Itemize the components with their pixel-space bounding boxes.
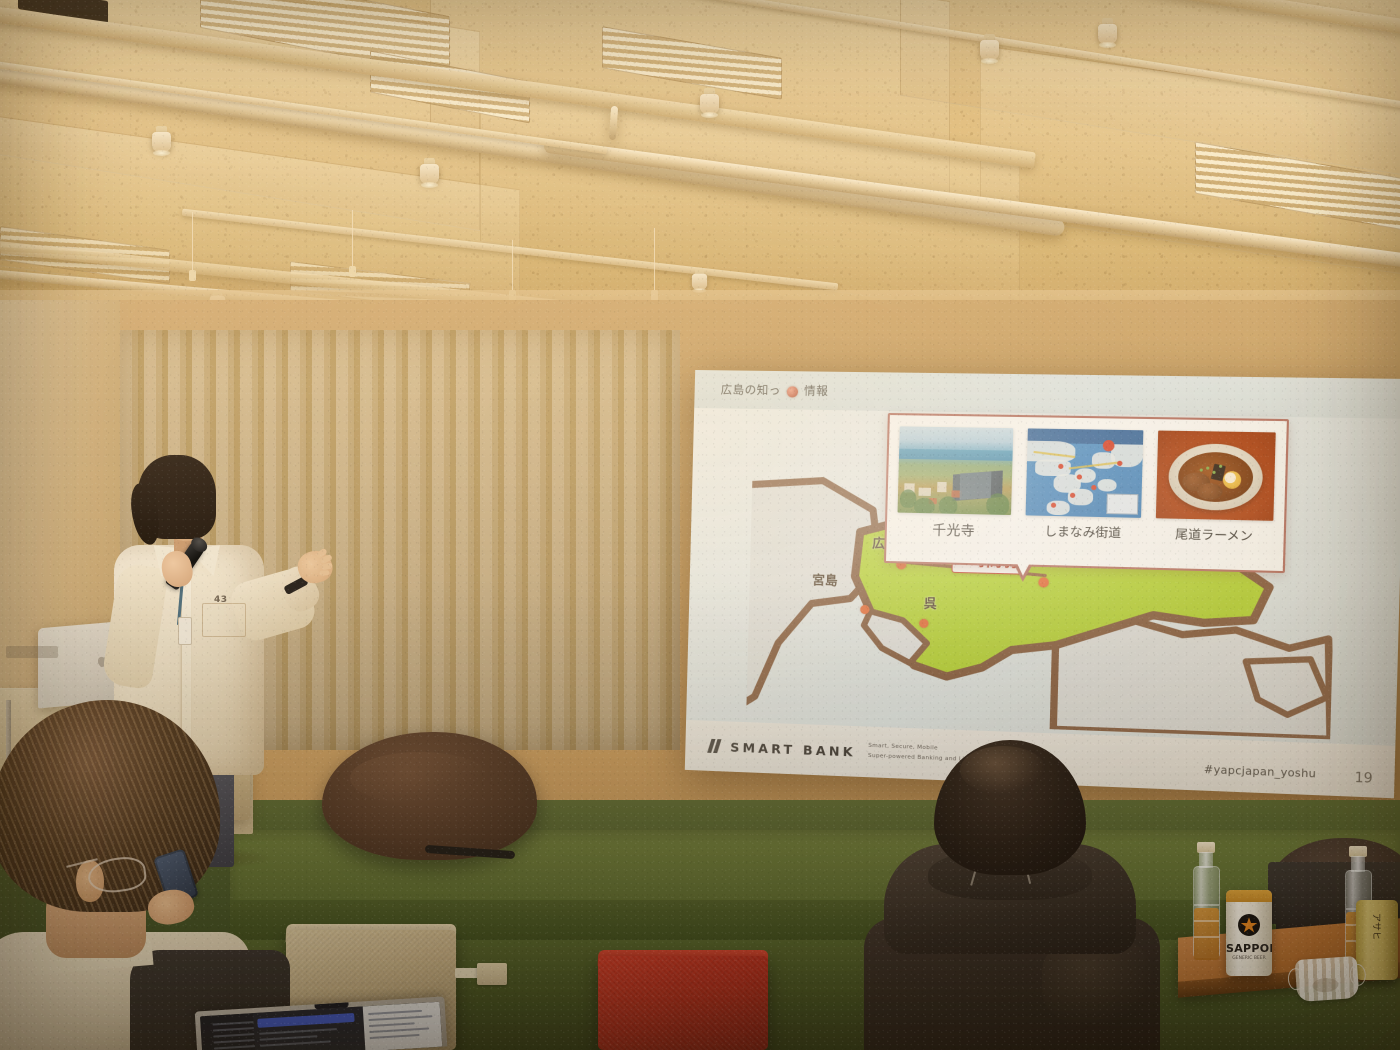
slide-header-suffix: 情報 bbox=[804, 382, 829, 398]
face-mask bbox=[1295, 956, 1360, 1002]
sapporo-star-icon bbox=[1238, 914, 1260, 936]
track-spotlight bbox=[420, 158, 439, 188]
presenter-shirt-logo: 43 bbox=[214, 595, 228, 605]
track-spotlight bbox=[700, 88, 719, 118]
pull-cord bbox=[512, 240, 513, 292]
callout-tail-inner bbox=[1017, 563, 1030, 576]
can-sub-text: GENERIC BEER bbox=[1226, 956, 1272, 961]
audience-member-left bbox=[0, 700, 300, 1050]
tourist-card-list: 千光寺 bbox=[887, 415, 1287, 547]
laptop-app-main bbox=[253, 1006, 366, 1050]
laptop-sticker bbox=[6, 646, 58, 658]
tourist-card-caption: しまなみ街道 bbox=[1025, 520, 1141, 541]
beer-can-sapporo: SAPPORO GENERIC BEER bbox=[1226, 890, 1272, 976]
conference-photo-scene: 広島の知っ 情報 広島の全体像と観光地 bbox=[0, 0, 1400, 1050]
ceiling bbox=[0, 0, 1400, 330]
tea-bottle-left bbox=[1192, 842, 1222, 962]
can2-brand-text: アサヒ bbox=[1371, 913, 1384, 940]
slide-header: 広島の知っ 情報 bbox=[694, 370, 1400, 419]
pull-cord bbox=[352, 210, 353, 268]
audience-member-center bbox=[862, 740, 1162, 1050]
tourist-card-caption: 千光寺 bbox=[897, 518, 1011, 541]
slide-header-prefix: 広島の知っ bbox=[720, 381, 781, 398]
tourist-card: 尾道 尾道ラーメン bbox=[1155, 431, 1276, 547]
map-label-kure: 呉 bbox=[924, 592, 937, 612]
track-spotlight bbox=[152, 126, 171, 156]
toku-badge-icon bbox=[787, 386, 798, 397]
presenter-badge bbox=[178, 617, 192, 645]
tourist-card: 千光寺 bbox=[897, 426, 1013, 540]
onomichi-ramen-photo: 尾道 bbox=[1156, 431, 1276, 521]
smartbank-logo-icon bbox=[709, 739, 718, 753]
map-label-miyajima: 宮島 bbox=[812, 569, 838, 589]
pull-cord bbox=[654, 228, 655, 292]
laptop-document-pane bbox=[363, 1002, 442, 1050]
tourist-card-caption: 尾道ラーメン bbox=[1155, 523, 1273, 544]
tourist-card: しまなみ街道 bbox=[1025, 428, 1143, 543]
slide-page-number: 19 bbox=[1354, 771, 1372, 787]
projection-screen: 広島の知っ 情報 広島の全体像と観光地 bbox=[685, 370, 1400, 798]
can-brand-text: SAPPORO bbox=[1226, 942, 1272, 955]
floor-power-outlet[interactable] bbox=[477, 963, 507, 985]
smartbank-logo-text: SMART BANK bbox=[730, 739, 856, 759]
senkoji-temple-photo bbox=[898, 426, 1014, 515]
laptop-app-sidebar bbox=[200, 1013, 255, 1050]
pull-cord bbox=[192, 212, 193, 272]
track-spotlight bbox=[1098, 18, 1117, 48]
tourist-spots-callout: 千光寺 bbox=[884, 413, 1289, 573]
ottoman-red bbox=[598, 956, 768, 1050]
slide-surface: 広島の知っ 情報 広島の全体像と観光地 bbox=[685, 370, 1400, 798]
shimanami-kaido-map bbox=[1026, 428, 1144, 517]
power-plug bbox=[455, 968, 479, 978]
track-spotlight bbox=[980, 34, 999, 64]
